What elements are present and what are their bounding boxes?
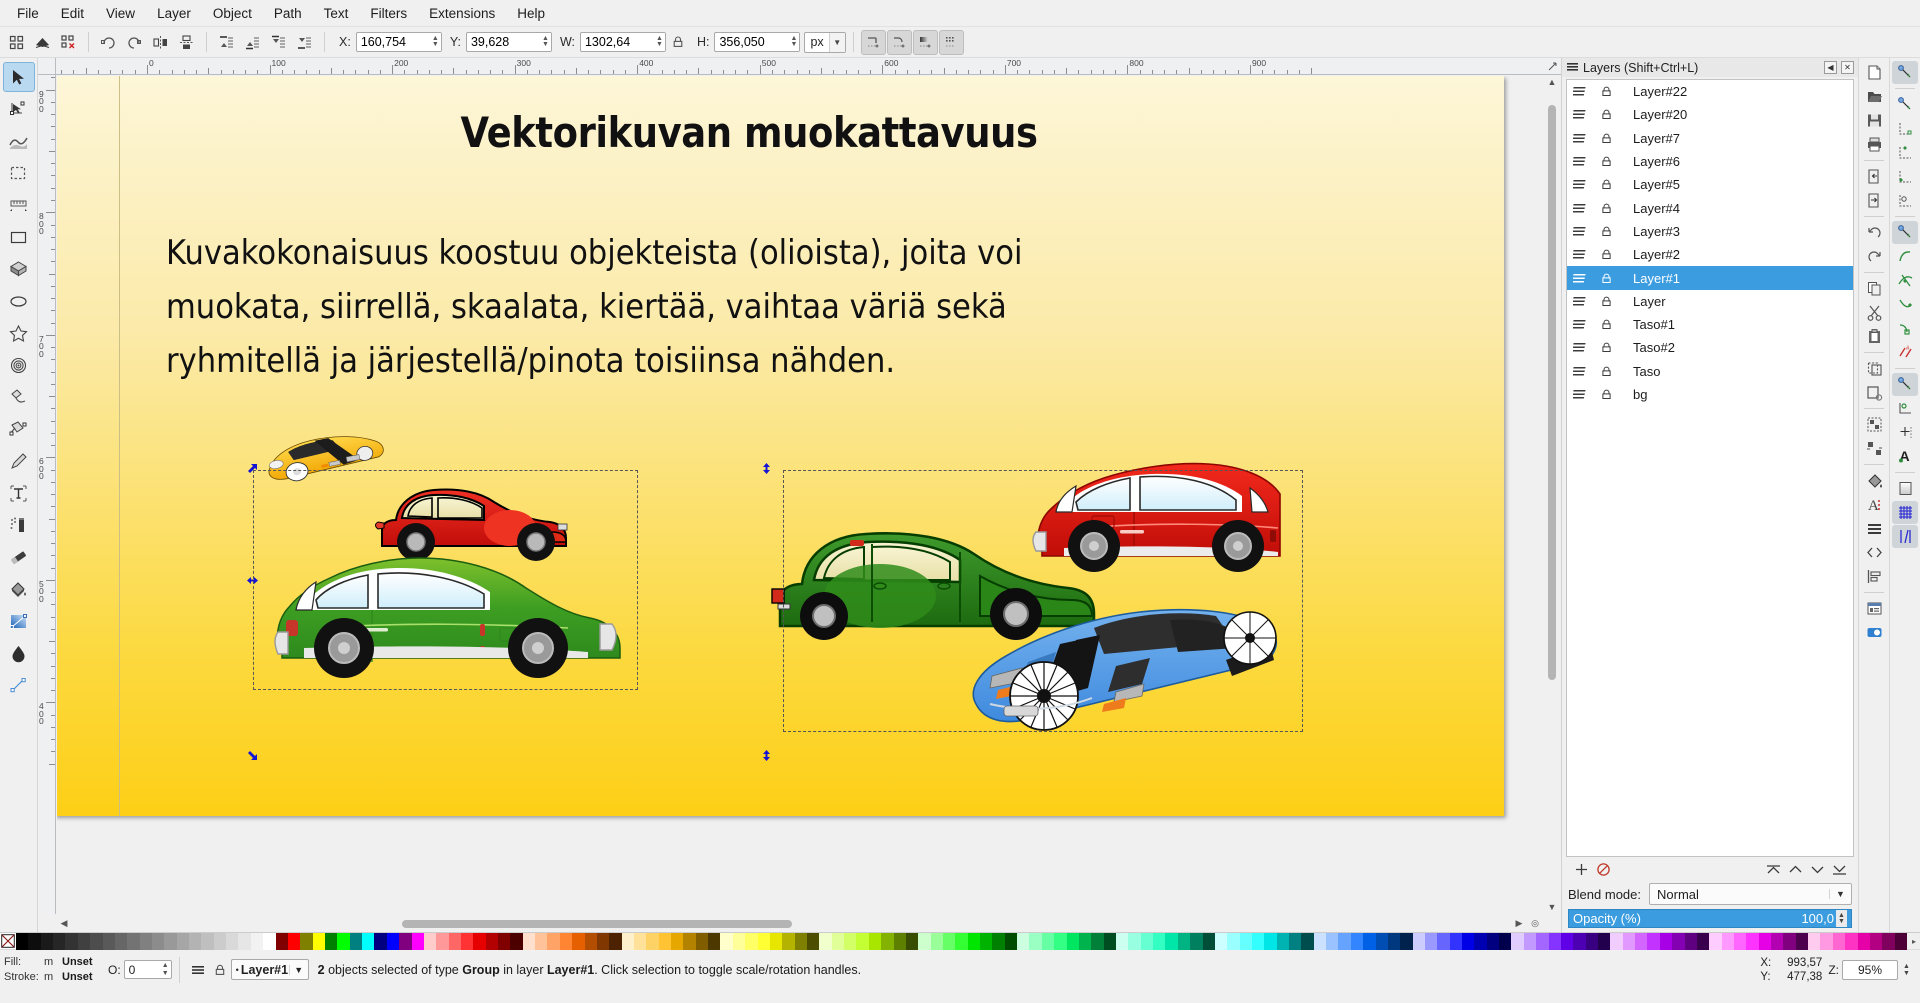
add-layer-icon[interactable] bbox=[1570, 859, 1592, 879]
palette-swatch[interactable] bbox=[1067, 933, 1079, 950]
menu-item-help[interactable]: Help bbox=[506, 2, 556, 25]
fill-stroke-indicator[interactable]: Fill: m Unset Stroke: m Unset bbox=[4, 955, 100, 985]
palette-swatch[interactable] bbox=[1376, 933, 1388, 950]
layer-lock-icon[interactable] bbox=[1593, 225, 1619, 238]
x-input[interactable] bbox=[357, 33, 430, 51]
palette-swatch[interactable] bbox=[362, 933, 374, 950]
palette-swatch[interactable] bbox=[1338, 933, 1350, 950]
palette-swatch[interactable] bbox=[1746, 933, 1758, 950]
palette-swatch[interactable] bbox=[1029, 933, 1041, 950]
palette-swatch[interactable] bbox=[1561, 933, 1573, 950]
palette-swatch[interactable] bbox=[819, 933, 831, 950]
palette-swatch[interactable] bbox=[1079, 933, 1091, 950]
layer-visibility-icon[interactable] bbox=[1567, 272, 1593, 285]
layer-lock-icon[interactable] bbox=[1593, 341, 1619, 354]
preferences-icon[interactable] bbox=[1861, 621, 1887, 644]
palette-swatch[interactable] bbox=[28, 933, 40, 950]
scroll-left-icon[interactable]: ◀ bbox=[56, 918, 72, 929]
layer-row[interactable]: Layer#7 bbox=[1567, 127, 1853, 150]
layer-row[interactable]: Layer#20 bbox=[1567, 103, 1853, 126]
palette-swatch[interactable] bbox=[276, 933, 288, 950]
snap-nodes-icon[interactable] bbox=[1892, 221, 1918, 244]
bezier-pen-tool[interactable] bbox=[3, 414, 35, 444]
layers-list[interactable]: Layer#22Layer#20Layer#7Layer#6Layer#5Lay… bbox=[1566, 79, 1854, 857]
palette-swatch[interactable] bbox=[1240, 933, 1252, 950]
layer-visibility-icon[interactable] bbox=[1567, 155, 1593, 168]
y-input[interactable] bbox=[467, 33, 540, 51]
zoom-input[interactable]: 95% bbox=[1842, 960, 1898, 980]
layer-visibility-icon[interactable] bbox=[1567, 365, 1593, 378]
layer-lock-icon[interactable] bbox=[1593, 108, 1619, 121]
spray-tool[interactable] bbox=[3, 510, 35, 540]
palette-swatch[interactable] bbox=[547, 933, 559, 950]
layer-visibility-icon[interactable] bbox=[1567, 178, 1593, 191]
palette-swatch[interactable] bbox=[1425, 933, 1437, 950]
layer-lock-icon[interactable] bbox=[1593, 248, 1619, 261]
xml-editor-icon[interactable] bbox=[1861, 541, 1887, 564]
palette-swatch[interactable] bbox=[1511, 933, 1523, 950]
palette-swatch[interactable] bbox=[325, 933, 337, 950]
snap-smooth-node-icon[interactable] bbox=[1892, 317, 1918, 340]
w-stepper[interactable]: ▲▼ bbox=[654, 33, 665, 51]
palette-swatch[interactable] bbox=[177, 933, 189, 950]
chevron-down-icon[interactable]: ▼ bbox=[289, 965, 308, 975]
group-icon[interactable] bbox=[1861, 413, 1887, 436]
spiral-tool[interactable] bbox=[3, 350, 35, 380]
palette-swatch[interactable] bbox=[1474, 933, 1486, 950]
snap-bbox-edge-icon[interactable] bbox=[1892, 117, 1918, 140]
palette-swatch[interactable] bbox=[1116, 933, 1128, 950]
opacity-slider[interactable]: Opacity (%) 100,0 ▲▼ bbox=[1568, 909, 1852, 928]
layer-lock-icon[interactable] bbox=[1593, 295, 1619, 308]
palette-swatch[interactable] bbox=[374, 933, 386, 950]
palette-swatch[interactable] bbox=[1351, 933, 1363, 950]
palette-swatch[interactable] bbox=[1413, 933, 1425, 950]
horizontal-scroll-trough[interactable] bbox=[72, 915, 1511, 932]
palette-swatch[interactable] bbox=[708, 933, 720, 950]
palette-swatch[interactable] bbox=[844, 933, 856, 950]
selection-handle-s[interactable] bbox=[760, 749, 773, 762]
layer-visibility-icon[interactable] bbox=[1567, 341, 1593, 354]
current-layer-select[interactable]: • Layer#1 ▼ bbox=[231, 959, 309, 980]
palette-swatch[interactable] bbox=[782, 933, 794, 950]
clone-icon[interactable] bbox=[1861, 381, 1887, 404]
palette-swatch[interactable] bbox=[251, 933, 263, 950]
deselect-icon[interactable] bbox=[56, 30, 81, 55]
horizontal-ruler[interactable]: 0100200300400500600700800900 bbox=[56, 58, 1543, 75]
palette-swatch[interactable] bbox=[671, 933, 683, 950]
palette-swatch[interactable] bbox=[1462, 933, 1474, 950]
palette-swatch[interactable] bbox=[1326, 933, 1338, 950]
layer-visibility-icon[interactable] bbox=[187, 960, 209, 980]
layer-visibility-icon[interactable] bbox=[1567, 202, 1593, 215]
menu-item-extensions[interactable]: Extensions bbox=[418, 2, 506, 25]
palette-swatch[interactable] bbox=[1573, 933, 1585, 950]
duplicate-icon[interactable] bbox=[1861, 357, 1887, 380]
opacity-stepper[interactable]: ▲▼ bbox=[160, 962, 171, 978]
collapse-dialog-icon[interactable]: ◀ bbox=[1824, 61, 1837, 74]
layer-visibility-icon[interactable] bbox=[1567, 108, 1593, 121]
palette-swatch[interactable] bbox=[1895, 933, 1907, 950]
palette-swatch[interactable] bbox=[1227, 933, 1239, 950]
chevron-down-icon[interactable]: ▼ bbox=[1829, 889, 1851, 899]
palette-swatch[interactable] bbox=[78, 933, 90, 950]
connector-tool[interactable] bbox=[3, 670, 35, 700]
palette-swatch[interactable] bbox=[1870, 933, 1882, 950]
palette-swatch[interactable] bbox=[1178, 933, 1190, 950]
zoom-control[interactable]: Z: 95% ▲▼ bbox=[1828, 960, 1912, 980]
gradient-tool[interactable] bbox=[3, 606, 35, 636]
lower-layer-to-bottom-icon[interactable] bbox=[1828, 859, 1850, 879]
palette-swatch[interactable] bbox=[337, 933, 349, 950]
selection-handle-w[interactable] bbox=[246, 574, 259, 587]
h-field[interactable]: ▲▼ bbox=[714, 32, 800, 52]
snap-bbox-corner-icon[interactable] bbox=[1892, 141, 1918, 164]
palette-swatch[interactable] bbox=[523, 933, 535, 950]
palette-swatch[interactable] bbox=[1820, 933, 1832, 950]
save-icon[interactable] bbox=[1861, 109, 1887, 132]
palette-swatch[interactable] bbox=[140, 933, 152, 950]
ellipse-tool[interactable] bbox=[3, 286, 35, 316]
palette-swatch[interactable] bbox=[634, 933, 646, 950]
snap-text-baseline-icon[interactable]: A bbox=[1892, 445, 1918, 468]
palette-swatch[interactable] bbox=[238, 933, 250, 950]
unit-selector[interactable]: px ▼ bbox=[804, 32, 845, 53]
open-document-icon[interactable] bbox=[1861, 85, 1887, 108]
layer-row[interactable]: Taso#2 bbox=[1567, 336, 1853, 359]
palette-swatch[interactable] bbox=[1586, 933, 1598, 950]
palette-swatch[interactable] bbox=[498, 933, 510, 950]
layer-visibility-icon[interactable] bbox=[1567, 295, 1593, 308]
snap-page-border-icon[interactable] bbox=[1892, 477, 1918, 500]
x-stepper[interactable]: ▲▼ bbox=[430, 33, 441, 51]
palette-swatch[interactable] bbox=[622, 933, 634, 950]
layer-lock-icon[interactable] bbox=[1593, 202, 1619, 215]
palette-swatch[interactable] bbox=[1128, 933, 1140, 950]
snap-bbox-edge-midpoint-icon[interactable] bbox=[1892, 165, 1918, 188]
zoom-tool[interactable] bbox=[3, 158, 35, 188]
palette-swatch[interactable] bbox=[1450, 933, 1462, 950]
chevron-down-icon[interactable]: ▼ bbox=[829, 33, 845, 52]
menu-item-edit[interactable]: Edit bbox=[50, 2, 95, 25]
palette-swatch[interactable] bbox=[1672, 933, 1684, 950]
layer-visibility-icon[interactable] bbox=[1567, 388, 1593, 401]
flip-vertical-icon[interactable] bbox=[174, 30, 199, 55]
palette-swatch[interactable] bbox=[226, 933, 238, 950]
snap-bbox-center-icon[interactable] bbox=[1892, 189, 1918, 212]
snap-bounding-box-icon[interactable] bbox=[1892, 93, 1918, 116]
palette-swatch[interactable] bbox=[1301, 933, 1313, 950]
scroll-right-icon[interactable]: ▶ bbox=[1511, 918, 1527, 929]
palette-swatch[interactable] bbox=[1660, 933, 1672, 950]
palette-swatch[interactable] bbox=[127, 933, 139, 950]
palette-swatch[interactable] bbox=[1054, 933, 1066, 950]
layer-row[interactable]: Taso#1 bbox=[1567, 313, 1853, 336]
palette-swatch[interactable] bbox=[943, 933, 955, 950]
layer-visibility-icon[interactable] bbox=[1567, 132, 1593, 145]
no-color-swatch[interactable] bbox=[0, 933, 16, 949]
palette-swatch[interactable] bbox=[980, 933, 992, 950]
palette-swatch[interactable] bbox=[214, 933, 226, 950]
palette-swatch[interactable] bbox=[1264, 933, 1276, 950]
layer-row[interactable]: Taso bbox=[1567, 360, 1853, 383]
layer-lock-icon[interactable] bbox=[1593, 365, 1619, 378]
palette-swatch[interactable] bbox=[659, 933, 671, 950]
affect-transform-corners-icon[interactable] bbox=[887, 30, 912, 55]
palette-swatch[interactable] bbox=[1796, 933, 1808, 950]
palette-swatch[interactable] bbox=[1437, 933, 1449, 950]
palette-swatch[interactable] bbox=[412, 933, 424, 950]
palette-swatch[interactable] bbox=[1635, 933, 1647, 950]
h-input[interactable] bbox=[715, 33, 788, 51]
palette-swatch[interactable] bbox=[560, 933, 572, 950]
zoom-stepper[interactable]: ▲▼ bbox=[1901, 963, 1912, 977]
horizontal-scrollbar[interactable]: ◀ ▶ ◎ bbox=[56, 915, 1543, 932]
palette-swatch[interactable] bbox=[263, 933, 275, 950]
paint-bucket-tool[interactable] bbox=[3, 574, 35, 604]
palette-swatch[interactable] bbox=[1017, 933, 1029, 950]
palette-swatch[interactable] bbox=[1104, 933, 1116, 950]
palette-swatch[interactable] bbox=[1165, 933, 1177, 950]
palette-swatch[interactable] bbox=[1363, 933, 1375, 950]
palette-swatch[interactable] bbox=[894, 933, 906, 950]
paste-icon[interactable] bbox=[1861, 325, 1887, 348]
palette-swatch[interactable] bbox=[313, 933, 325, 950]
calligraphy-tool[interactable] bbox=[3, 446, 35, 476]
palette-swatch[interactable] bbox=[1388, 933, 1400, 950]
palette-swatch[interactable] bbox=[646, 933, 658, 950]
palette-swatch[interactable] bbox=[720, 933, 732, 950]
palette-swatch[interactable] bbox=[1153, 933, 1165, 950]
snap-path-intersection-icon[interactable] bbox=[1892, 269, 1918, 292]
palette-swatch[interactable] bbox=[733, 933, 745, 950]
opacity-input[interactable]: 0 ▲▼ bbox=[124, 960, 172, 979]
rotate-cw-icon[interactable] bbox=[122, 30, 147, 55]
star-tool[interactable] bbox=[3, 318, 35, 348]
box-3d-tool[interactable] bbox=[3, 254, 35, 284]
palette-swatch[interactable] bbox=[856, 933, 868, 950]
palette-swatch[interactable] bbox=[350, 933, 362, 950]
palette-scroll-right-icon[interactable]: ▸ bbox=[1907, 933, 1920, 949]
palette-swatch[interactable] bbox=[103, 933, 115, 950]
lower-icon[interactable] bbox=[266, 30, 291, 55]
palette-swatch[interactable] bbox=[1091, 933, 1103, 950]
layer-lock-icon[interactable] bbox=[1593, 132, 1619, 145]
snap-grid-icon[interactable] bbox=[1892, 501, 1918, 524]
palette-swatch[interactable] bbox=[585, 933, 597, 950]
measure-tool[interactable] bbox=[3, 190, 35, 220]
palette-swatch[interactable] bbox=[992, 933, 1004, 950]
affect-transform-patterns-icon[interactable] bbox=[939, 30, 964, 55]
palette-swatch[interactable] bbox=[164, 933, 176, 950]
menu-item-file[interactable]: File bbox=[6, 2, 50, 25]
layer-row[interactable]: Layer bbox=[1567, 290, 1853, 313]
palette-swatch[interactable] bbox=[1709, 933, 1721, 950]
palette-swatch[interactable] bbox=[1215, 933, 1227, 950]
palette-swatch[interactable] bbox=[399, 933, 411, 950]
palette-swatch[interactable] bbox=[1623, 933, 1635, 950]
palette-swatch[interactable] bbox=[436, 933, 448, 950]
vertical-scroll-thumb[interactable] bbox=[1548, 105, 1556, 680]
select-all-icon[interactable] bbox=[4, 30, 29, 55]
opacity-control[interactable]: O: 0 ▲▼ bbox=[108, 960, 172, 979]
palette-swatch[interactable] bbox=[696, 933, 708, 950]
palette-swatch[interactable] bbox=[1610, 933, 1622, 950]
selection-handle-nw[interactable] bbox=[246, 462, 259, 475]
palette-swatch[interactable] bbox=[906, 933, 918, 950]
palette-swatch[interactable] bbox=[745, 933, 757, 950]
scroll-up-icon[interactable]: ▲ bbox=[1543, 77, 1561, 87]
layer-row[interactable]: Layer#22 bbox=[1567, 80, 1853, 103]
close-icon[interactable]: ✕ bbox=[1841, 61, 1854, 74]
palette-swatch[interactable] bbox=[597, 933, 609, 950]
palette-swatch[interactable] bbox=[486, 933, 498, 950]
lock-width-height-icon[interactable] bbox=[667, 31, 689, 53]
scroll-down-icon[interactable]: ▼ bbox=[1543, 902, 1561, 912]
raise-layer-icon[interactable] bbox=[1784, 859, 1806, 879]
opacity-stepper[interactable]: ▲▼ bbox=[1836, 910, 1847, 927]
palette-swatch[interactable] bbox=[1005, 933, 1017, 950]
ungroup-icon[interactable] bbox=[1861, 437, 1887, 460]
raise-to-top-icon[interactable] bbox=[214, 30, 239, 55]
palette-swatch[interactable] bbox=[1400, 933, 1412, 950]
menu-item-text[interactable]: Text bbox=[313, 2, 360, 25]
layer-visibility-icon[interactable] bbox=[1567, 225, 1593, 238]
palette-swatch[interactable] bbox=[1252, 933, 1264, 950]
layer-lock-icon[interactable] bbox=[1593, 85, 1619, 98]
palette-swatch[interactable] bbox=[16, 933, 28, 950]
document-properties-icon[interactable] bbox=[1861, 597, 1887, 620]
palette-swatch[interactable] bbox=[1734, 933, 1746, 950]
layer-lock-icon[interactable] bbox=[1593, 318, 1619, 331]
palette-swatch[interactable] bbox=[1536, 933, 1548, 950]
palette-swatch[interactable] bbox=[115, 933, 127, 950]
layer-row[interactable]: Layer#6 bbox=[1567, 150, 1853, 173]
color-palette[interactable]: ▸ bbox=[0, 932, 1920, 949]
affect-transform-stroke-icon[interactable] bbox=[861, 30, 886, 55]
palette-swatch[interactable] bbox=[535, 933, 547, 950]
layer-row[interactable]: Layer#4 bbox=[1567, 196, 1853, 219]
palette-swatch[interactable] bbox=[1808, 933, 1820, 950]
layer-row[interactable]: Layer#3 bbox=[1567, 220, 1853, 243]
palette-swatch[interactable] bbox=[90, 933, 102, 950]
menu-item-path[interactable]: Path bbox=[263, 2, 313, 25]
palette-swatch[interactable] bbox=[1499, 933, 1511, 950]
palette-swatch[interactable] bbox=[1141, 933, 1153, 950]
w-field[interactable]: ▲▼ bbox=[580, 32, 666, 52]
palette-swatch[interactable] bbox=[955, 933, 967, 950]
import-icon[interactable] bbox=[1861, 165, 1887, 188]
palette-swatch[interactable] bbox=[918, 933, 930, 950]
palette-swatch[interactable] bbox=[288, 933, 300, 950]
palette-swatch[interactable] bbox=[152, 933, 164, 950]
pencil-tool[interactable] bbox=[3, 382, 35, 412]
palette-swatch[interactable] bbox=[1549, 933, 1561, 950]
y-field[interactable]: ▲▼ bbox=[466, 32, 552, 52]
zoom-to-fit-icon[interactable]: ◎ bbox=[1527, 918, 1543, 929]
redo-icon[interactable] bbox=[1861, 245, 1887, 268]
snap-guide-icon[interactable] bbox=[1892, 525, 1918, 548]
menu-item-layer[interactable]: Layer bbox=[146, 2, 202, 25]
layer-visibility-icon[interactable] bbox=[1567, 248, 1593, 261]
text-properties-icon[interactable]: A bbox=[1861, 493, 1887, 516]
align-distribute-icon[interactable] bbox=[1861, 565, 1887, 588]
new-document-icon[interactable] bbox=[1861, 61, 1887, 84]
eraser-tool[interactable] bbox=[3, 542, 35, 572]
selection-handle-n[interactable] bbox=[760, 462, 773, 475]
palette-swatch[interactable] bbox=[572, 933, 584, 950]
palette-swatch[interactable] bbox=[1487, 933, 1499, 950]
snap-object-center-icon[interactable] bbox=[1892, 397, 1918, 420]
palette-swatch[interactable] bbox=[869, 933, 881, 950]
palette-swatch[interactable] bbox=[770, 933, 782, 950]
copy-icon[interactable] bbox=[1861, 277, 1887, 300]
layer-row[interactable]: Layer#5 bbox=[1567, 173, 1853, 196]
dropper-tool[interactable] bbox=[3, 638, 35, 668]
rectangle-tool[interactable] bbox=[3, 222, 35, 252]
palette-swatch[interactable] bbox=[1277, 933, 1289, 950]
layer-lock-icon[interactable] bbox=[209, 960, 231, 980]
layer-lock-icon[interactable] bbox=[1593, 272, 1619, 285]
layer-visibility-icon[interactable] bbox=[1567, 85, 1593, 98]
w-input[interactable] bbox=[581, 33, 654, 51]
tweak-tool[interactable] bbox=[3, 126, 35, 156]
palette-swatch[interactable] bbox=[1598, 933, 1610, 950]
menu-item-view[interactable]: View bbox=[95, 2, 146, 25]
layer-row[interactable]: bg bbox=[1567, 383, 1853, 406]
palette-swatch[interactable] bbox=[424, 933, 436, 950]
palette-swatch[interactable] bbox=[968, 933, 980, 950]
palette-swatch[interactable] bbox=[1524, 933, 1536, 950]
palette-swatch[interactable] bbox=[1314, 933, 1326, 950]
affect-transform-gradients-icon[interactable] bbox=[913, 30, 938, 55]
palette-swatch[interactable] bbox=[1190, 933, 1202, 950]
canvas-rotation-lock-icon[interactable] bbox=[1543, 58, 1561, 75]
palette-swatch[interactable] bbox=[807, 933, 819, 950]
selector-tool[interactable] bbox=[3, 62, 35, 92]
palette-swatch[interactable] bbox=[931, 933, 943, 950]
palette-swatch[interactable] bbox=[1833, 933, 1845, 950]
palette-swatch[interactable] bbox=[1042, 933, 1054, 950]
canvas-viewport[interactable]: Vektorikuvan muokattavuus Kuvakokonaisuu… bbox=[57, 76, 1543, 914]
blend-mode-select[interactable]: Normal ▼ bbox=[1649, 883, 1852, 905]
layer-lock-icon[interactable] bbox=[1593, 178, 1619, 191]
raise-layer-to-top-icon[interactable] bbox=[1762, 859, 1784, 879]
palette-swatch[interactable] bbox=[881, 933, 893, 950]
palette-swatch[interactable] bbox=[449, 933, 461, 950]
palette-swatch[interactable] bbox=[510, 933, 522, 950]
cut-icon[interactable] bbox=[1861, 301, 1887, 324]
palette-swatch[interactable] bbox=[683, 933, 695, 950]
undo-icon[interactable] bbox=[1861, 221, 1887, 244]
palette-swatch[interactable] bbox=[832, 933, 844, 950]
snap-midline-icon[interactable]: # bbox=[1892, 341, 1918, 364]
palette-swatch[interactable] bbox=[1771, 933, 1783, 950]
palette-swatch[interactable] bbox=[1203, 933, 1215, 950]
palette-swatch[interactable] bbox=[1759, 933, 1771, 950]
selection-handle-sw[interactable] bbox=[246, 749, 259, 762]
palette-swatch[interactable] bbox=[473, 933, 485, 950]
palette-swatch[interactable] bbox=[1697, 933, 1709, 950]
palette-swatch[interactable] bbox=[758, 933, 770, 950]
palette-swatch[interactable] bbox=[41, 933, 53, 950]
y-stepper[interactable]: ▲▼ bbox=[540, 33, 551, 51]
raise-icon[interactable] bbox=[240, 30, 265, 55]
lower-to-bottom-icon[interactable] bbox=[292, 30, 317, 55]
palette-swatch[interactable] bbox=[387, 933, 399, 950]
delete-layer-icon[interactable] bbox=[1592, 859, 1614, 879]
palette-swatch[interactable] bbox=[1858, 933, 1870, 950]
